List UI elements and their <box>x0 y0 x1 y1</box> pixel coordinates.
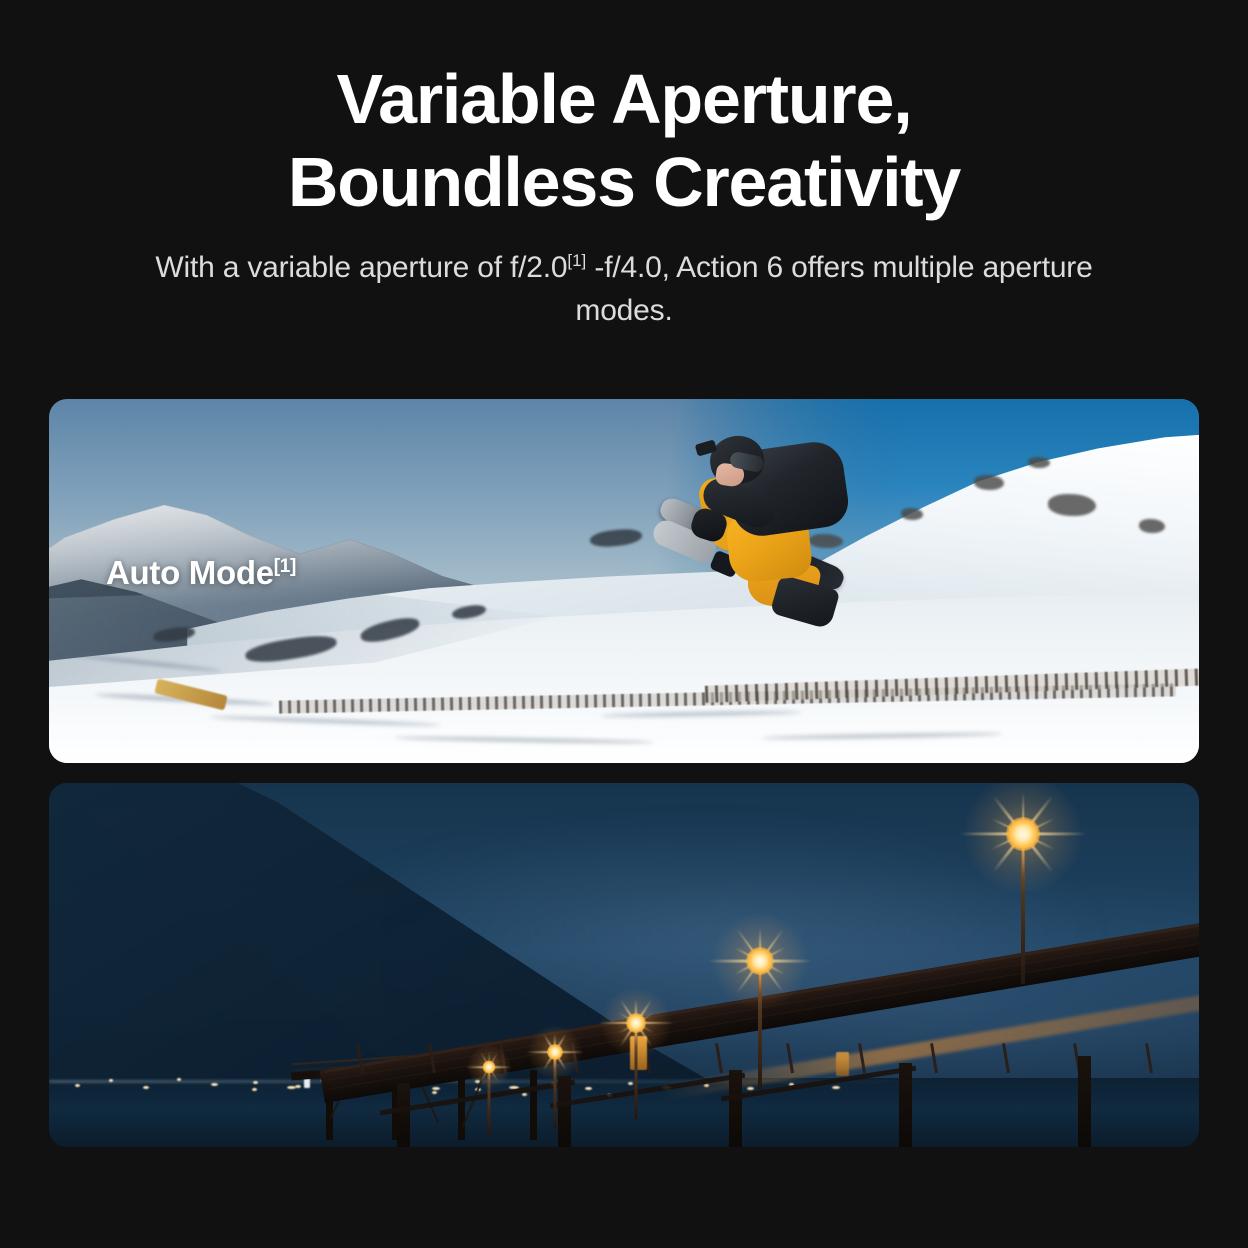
subtitle-footnote-1: [1] <box>567 251 586 270</box>
starburst-mode-card[interactable]: Starburst Mode[2] <box>49 783 1199 1147</box>
auto-mode-label: Auto Mode[1] <box>106 554 296 592</box>
pier-lamp-1 <box>975 834 1071 984</box>
mode-cards-container: Auto Mode[1] <box>49 399 1199 1147</box>
page-title: Variable Aperture, Boundless Creativity <box>0 58 1248 223</box>
pier-lamp-3 <box>607 1023 665 1119</box>
page-subtitle: With a variable aperture of f/2.0[1] -f/… <box>0 247 1248 332</box>
pier-lamp-2 <box>722 961 798 1089</box>
auto-mode-label-text: Auto Mode <box>106 554 274 591</box>
auto-mode-card[interactable]: Auto Mode[1] <box>49 399 1199 763</box>
subtitle-text-part-1: With a variable aperture of f/2.0 <box>155 251 567 284</box>
pier-lit-panel <box>836 1052 849 1076</box>
pier-lamp-4 <box>532 1052 578 1128</box>
auto-mode-footnote: [1] <box>274 556 296 577</box>
subtitle-text-part-2: -f/4.0, Action 6 offers multiple apertur… <box>575 251 1092 327</box>
pier-lamp-5 <box>469 1067 509 1135</box>
snowboarder <box>656 432 866 662</box>
page-header: Variable Aperture, Boundless Creativity … <box>0 0 1248 332</box>
